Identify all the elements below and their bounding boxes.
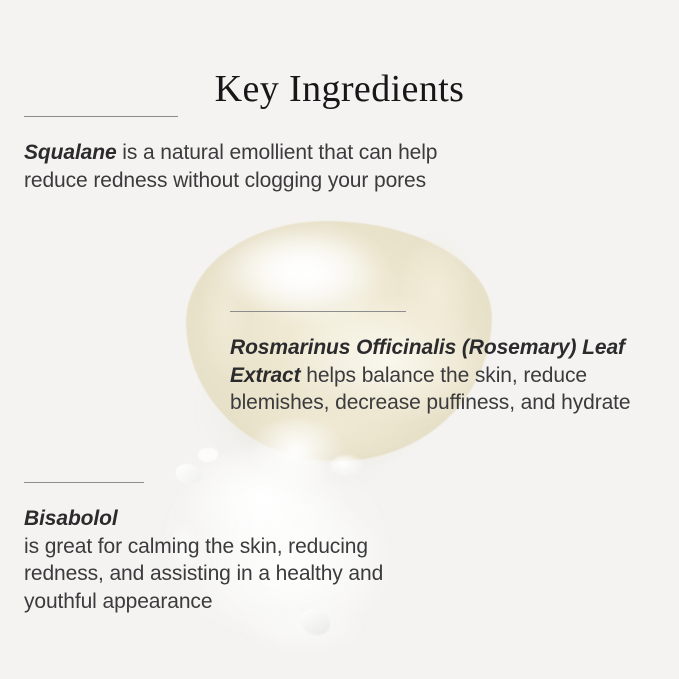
ingredient-description-rosemary: Rosmarinus Officinalis (Rosemary) Leaf E… <box>230 334 660 417</box>
ingredient-name-squalane: Squalane <box>24 141 117 164</box>
divider-rule-rosemary <box>230 311 406 312</box>
ingredient-block-rosemary: Rosmarinus Officinalis (Rosemary) Leaf E… <box>230 311 660 438</box>
ingredient-block-squalane: Squalane is a natural emollient that can… <box>24 116 444 215</box>
ingredient-name-bisabolol: Bisabolol <box>24 505 444 533</box>
ingredient-description-squalane: Squalane is a natural emollient that can… <box>24 139 444 194</box>
page-title: Key Ingredients <box>0 70 679 108</box>
divider-rule-squalane <box>24 116 178 117</box>
text-content-layer: Key Ingredients Squalane is a natural em… <box>0 0 679 679</box>
ingredient-text-bisabolol: is great for calming the skin, reducing … <box>24 535 383 613</box>
ingredient-description-bisabolol: Bisabololis great for calming the skin, … <box>24 505 444 615</box>
divider-rule-bisabolol <box>24 482 144 483</box>
key-ingredients-infographic: Key Ingredients Squalane is a natural em… <box>0 0 679 679</box>
ingredient-block-bisabolol: Bisabololis great for calming the skin, … <box>24 482 444 636</box>
